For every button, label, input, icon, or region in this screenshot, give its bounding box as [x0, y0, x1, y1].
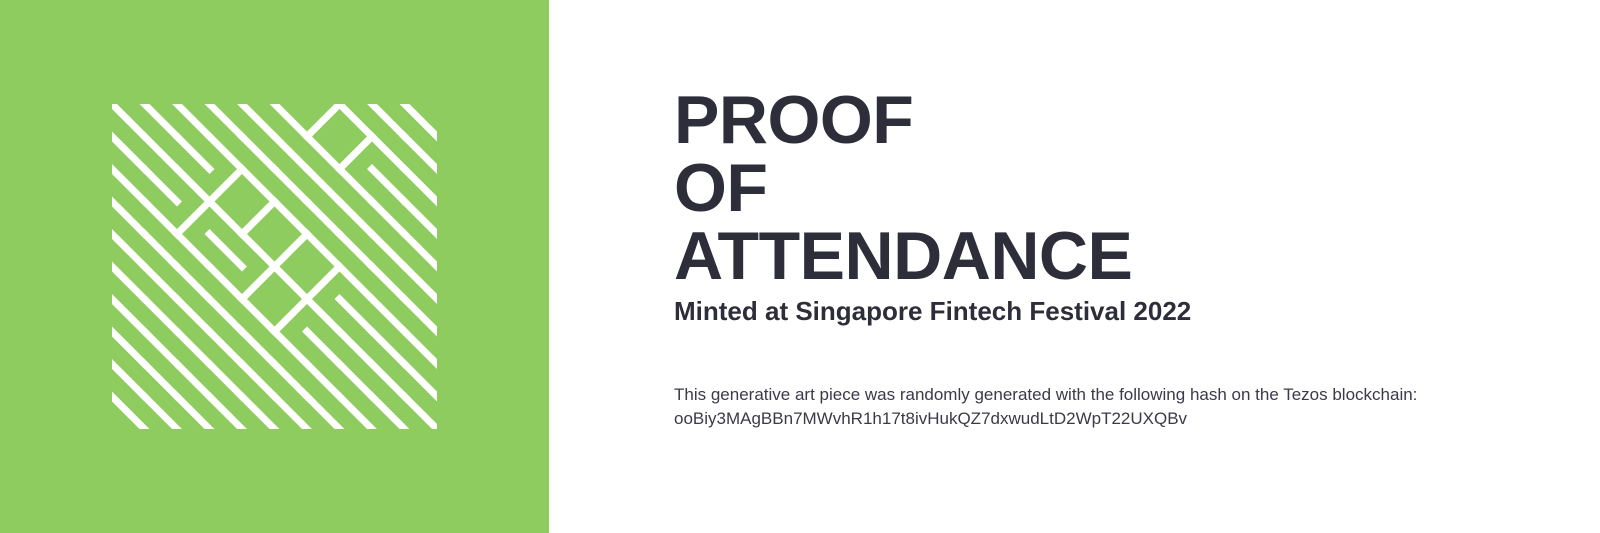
- body-description-line: This generative art piece was randomly g…: [674, 383, 1504, 407]
- tezos-hash-value: ooBiy3MAgBBn7MWvhR1h17t8ivHukQZ7dxwudLtD…: [674, 407, 1504, 431]
- certificate-subtitle: Minted at Singapore Fintech Festival 202…: [674, 296, 1534, 326]
- title-line-proof: PROOF: [674, 86, 1534, 154]
- title-line-of: OF: [674, 154, 1534, 222]
- certificate-text-panel: PROOF OF ATTENDANCE Minted at Singapore …: [549, 0, 1600, 533]
- certificate-title-block: PROOF OF ATTENDANCE Minted at Singapore …: [674, 86, 1534, 326]
- generative-art-canvas: [112, 104, 437, 429]
- generative-art-panel: [0, 0, 549, 533]
- proof-of-attendance-certificate: PROOF OF ATTENDANCE Minted at Singapore …: [0, 0, 1600, 533]
- title-line-attendance: ATTENDANCE: [674, 222, 1534, 290]
- certificate-body-block: This generative art piece was randomly g…: [674, 383, 1504, 431]
